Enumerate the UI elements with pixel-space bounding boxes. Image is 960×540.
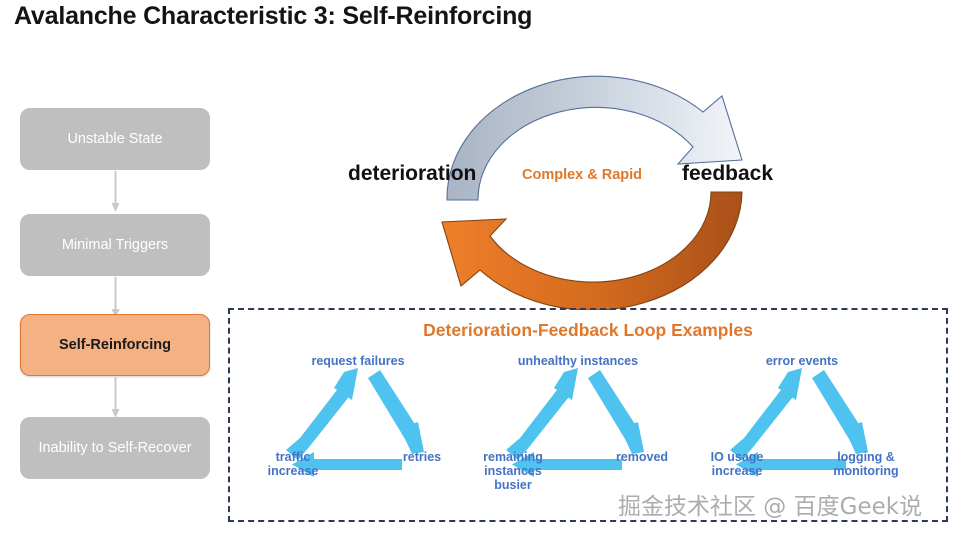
cycle-arrows-icon — [248, 354, 468, 514]
loop-label-feedback: feedback — [682, 162, 773, 186]
flow-step-label: Inability to Self-Recover — [38, 440, 191, 456]
flow-step-unstable-state[interactable]: Unstable State — [20, 108, 210, 170]
cycle-node-bottom-left: remaining instances busier — [470, 450, 556, 492]
deterioration-feedback-loop-diagram: deterioration Complex & Rapid feedback — [330, 40, 860, 310]
flow-step-minimal-triggers[interactable]: Minimal Triggers — [20, 214, 210, 276]
cycle-node-bottom-right: removed — [598, 450, 686, 464]
flow-connector-arrow-2 — [111, 277, 120, 319]
cycle-node-top: request failures — [248, 354, 468, 368]
flow-step-label: Minimal Triggers — [62, 237, 168, 253]
page-title: Avalanche Characteristic 3: Self-Reinfor… — [14, 2, 532, 31]
loop-label-complex-and-rapid: Complex & Rapid — [522, 167, 642, 183]
flow-step-label: Unstable State — [67, 131, 162, 147]
cycle-node-bottom-left: IO usage increase — [694, 450, 780, 478]
flow-step-label: Self-Reinforcing — [59, 337, 171, 353]
flow-connector-arrow-1 — [111, 171, 120, 213]
cycle-node-bottom-right: logging & monitoring — [822, 450, 910, 478]
watermark: 掘金技术社区 @ 百度Geek说 — [618, 487, 922, 521]
examples-panel-title: Deterioration-Feedback Loop Examples — [230, 320, 946, 341]
cycle-node-top: error events — [692, 354, 912, 368]
cycle-node-bottom-right: retries — [378, 450, 466, 464]
loop-bottom-arrow — [442, 192, 742, 310]
flow-step-inability-to-self-recover[interactable]: Inability to Self-Recover — [20, 417, 210, 479]
loop-label-deterioration: deterioration — [348, 162, 476, 186]
flow-connector-arrow-3 — [111, 377, 120, 419]
cycle-node-bottom-left: traffic increase — [250, 450, 336, 478]
flow-step-self-reinforcing[interactable]: Self-Reinforcing — [20, 314, 210, 376]
example-cycle-request-failures: request failures traffic increase retrie… — [248, 354, 468, 514]
cycle-node-top: unhealthy instances — [468, 354, 688, 368]
